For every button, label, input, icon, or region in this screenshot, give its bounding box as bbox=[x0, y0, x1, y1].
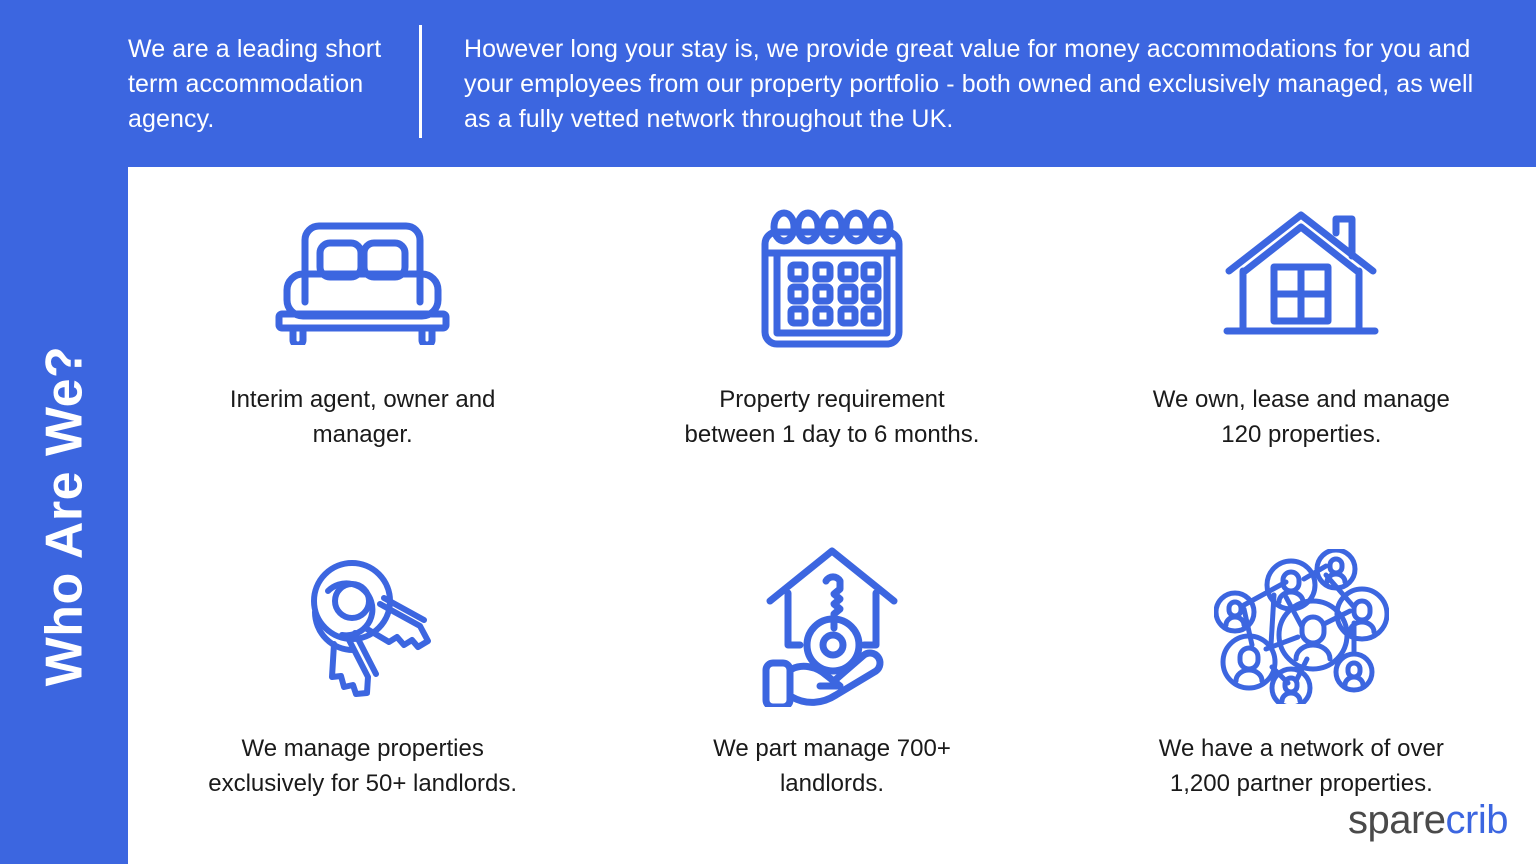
feature-caption: We manage properties exclusively for 50+… bbox=[203, 731, 523, 801]
page-title: Who Are We? bbox=[34, 345, 94, 686]
feature-caption: We own, lease and manage 120 properties. bbox=[1151, 382, 1451, 452]
calendar-icon bbox=[757, 195, 907, 360]
feature-card-property-requirement: Property requirement between 1 day to 6 … bbox=[597, 167, 1066, 516]
slide-root: We are a leading short term accommodatio… bbox=[0, 0, 1536, 864]
feature-card-manage-exclusively: We manage properties exclusively for 50+… bbox=[128, 516, 597, 864]
content-panel: Interim agent, owner and manager. bbox=[128, 167, 1536, 864]
header-band: We are a leading short term accommodatio… bbox=[0, 0, 1536, 167]
bed-icon bbox=[265, 195, 460, 360]
feature-card-own-lease-manage: We own, lease and manage 120 properties. bbox=[1067, 167, 1536, 516]
feature-caption: We have a network of over 1,200 partner … bbox=[1151, 731, 1451, 801]
feature-card-part-manage: We part manage 700+ landlords. bbox=[597, 516, 1066, 864]
feature-caption: Interim agent, owner and manager. bbox=[213, 382, 513, 452]
feature-card-interim-agent: Interim agent, owner and manager. bbox=[128, 167, 597, 516]
section-side-title: Who Are We? bbox=[0, 167, 128, 864]
header-body-text: However long your stay is, we provide gr… bbox=[464, 32, 1504, 137]
house-key-hand-icon bbox=[758, 544, 906, 709]
feature-caption: Property requirement between 1 day to 6 … bbox=[682, 382, 982, 452]
sparecrib-logo: sparecrib bbox=[1348, 800, 1508, 840]
feature-grid: Interim agent, owner and manager. bbox=[128, 167, 1536, 864]
keys-icon bbox=[285, 544, 440, 709]
network-icon bbox=[1214, 544, 1389, 709]
header-divider bbox=[419, 25, 422, 138]
logo-text-spare: spare bbox=[1348, 798, 1446, 842]
logo-text-crib: crib bbox=[1446, 798, 1508, 842]
feature-caption: We part manage 700+ landlords. bbox=[682, 731, 982, 801]
house-icon bbox=[1221, 195, 1381, 360]
header-lead-text: We are a leading short term accommodatio… bbox=[128, 32, 400, 137]
